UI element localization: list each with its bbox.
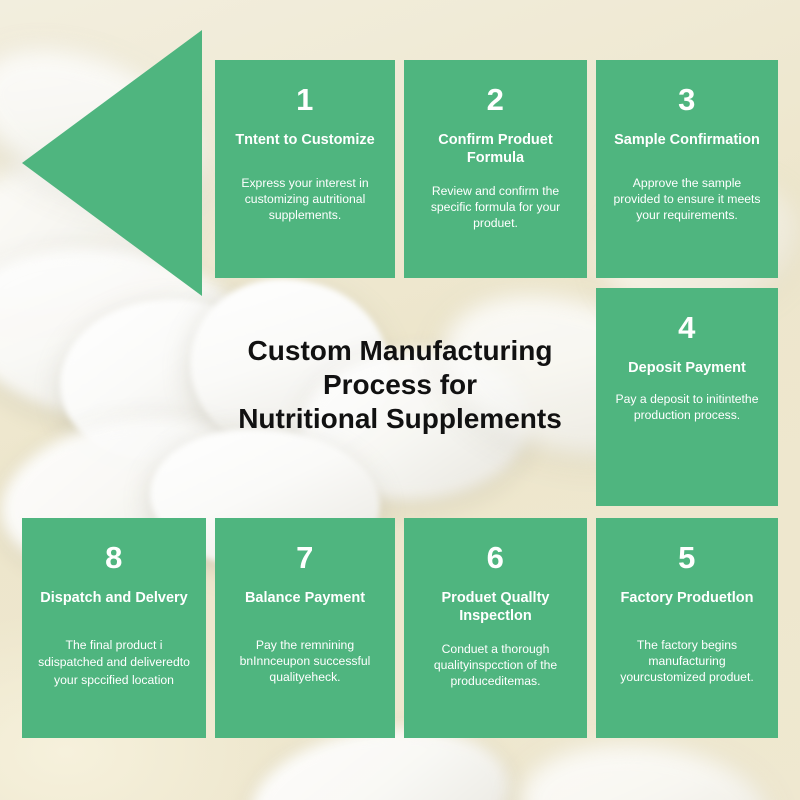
step-title: Sample Confirmation <box>614 131 760 149</box>
infographic-canvas: 1 Tntent to Customize Express your inter… <box>0 0 800 800</box>
step-description: Review and confirm the specific formula … <box>416 183 575 231</box>
step-card-8[interactable]: 8 Dispatch and Delvery The final product… <box>22 518 206 738</box>
step-number: 5 <box>678 542 696 575</box>
step-description: Approve the sample provided to ensure it… <box>608 175 766 223</box>
step-description: The final product i sdispatched and deli… <box>34 637 194 690</box>
page-title-line-3: Nutritional Supplements <box>200 402 600 436</box>
step-description: Conduet a thorough qualityinspcction of … <box>416 641 575 689</box>
step-description: Express your interest in customizing aut… <box>227 175 383 223</box>
step-description: The factory begins manufacturing yourcus… <box>608 637 766 685</box>
step-number: 8 <box>105 542 123 575</box>
step-card-7[interactable]: 7 Balance Payment Pay the remnining bnIn… <box>215 518 395 738</box>
step-card-1[interactable]: 1 Tntent to Customize Express your inter… <box>215 60 395 278</box>
step-card-2[interactable]: 2 Confirm Produet Formula Review and con… <box>404 60 587 278</box>
step-title: Deposit Payment <box>628 359 746 377</box>
step-card-4[interactable]: 4 Deposit Payment Pay a deposit to initi… <box>596 288 778 506</box>
step-description: Pay a deposit to initintethe production … <box>608 391 766 423</box>
step-title: Factory Produetlon <box>621 589 754 607</box>
step-number: 1 <box>296 84 314 117</box>
step-description: Pay the remnining bnInnceupon successful… <box>227 637 383 685</box>
step-number: 3 <box>678 84 696 117</box>
step-title: Confirm Produet Formula <box>416 131 575 167</box>
step-number: 2 <box>487 84 505 117</box>
step-number: 7 <box>296 542 314 575</box>
step-card-3[interactable]: 3 Sample Confirmation Approve the sample… <box>596 60 778 278</box>
step-number: 6 <box>487 542 505 575</box>
step-title: Balance Payment <box>245 589 365 607</box>
page-title: Custom Manufacturing Process for Nutriti… <box>200 334 600 436</box>
step-title: Dispatch and Delvery <box>40 589 187 607</box>
page-title-line-2: Process for <box>200 368 600 402</box>
step-title: Produet Quallty Inspectlon <box>416 589 575 625</box>
step-card-5[interactable]: 5 Factory Produetlon The factory begins … <box>596 518 778 738</box>
step-number: 4 <box>678 312 696 345</box>
step-card-6[interactable]: 6 Produet Quallty Inspectlon Conduet a t… <box>404 518 587 738</box>
process-arrow-icon <box>22 30 202 296</box>
page-title-line-1: Custom Manufacturing <box>200 334 600 368</box>
step-title: Tntent to Customize <box>235 131 374 149</box>
